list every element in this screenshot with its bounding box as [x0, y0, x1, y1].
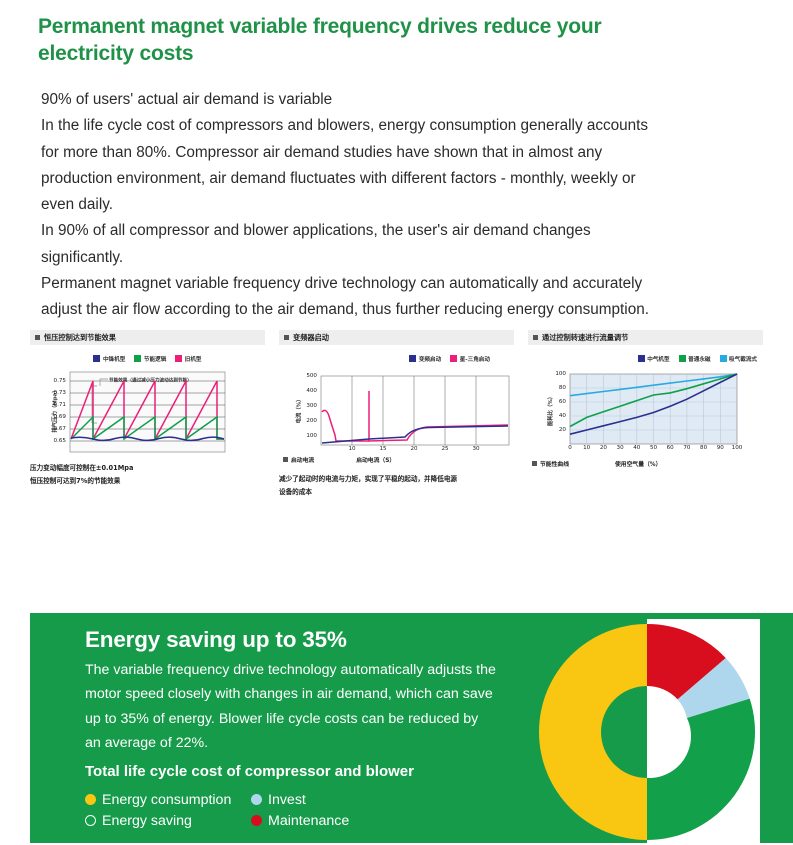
- x-tick: 60: [667, 445, 674, 451]
- x-axis-title: 使用空气量（%）: [615, 459, 661, 468]
- intro-paragraph-3: In 90% of all compressor and blower appl…: [41, 218, 656, 271]
- x-tick: 10: [583, 445, 590, 451]
- panel-title: Energy saving up to 35%: [85, 627, 347, 653]
- x-tick: 90: [717, 445, 724, 451]
- footer-legend-label: 节能性曲线: [540, 459, 569, 468]
- legend-item: 节能逻辑: [134, 355, 166, 363]
- x-tick: 10: [348, 446, 355, 452]
- legend-dot-icon: [85, 794, 96, 805]
- legend-swatch-icon: [720, 355, 727, 362]
- x-tick: 0: [568, 445, 572, 451]
- legend-label: 吸气截流式: [729, 355, 757, 363]
- bullet-square-icon: [283, 457, 288, 462]
- x-tick: 30: [617, 445, 624, 451]
- legend-swatch-icon: [93, 355, 100, 362]
- x-tick: 100: [732, 445, 743, 451]
- x-tick: 20: [410, 446, 417, 452]
- chart-title-bar: 变频器启动: [279, 330, 514, 345]
- footer-legend-label: 启动电流: [291, 455, 314, 464]
- legend-item: 旧机型: [175, 355, 201, 363]
- x-tick: 25: [441, 446, 448, 452]
- legend-swatch-icon: [638, 355, 645, 362]
- pie-legend-item-energy-saving: Energy saving: [85, 813, 251, 829]
- panel-body-text: The variable frequency drive technology …: [85, 658, 497, 755]
- chart-caption-line: 设备的成本: [279, 486, 514, 499]
- pie-legend-item-energy-consumption: Energy consumption: [85, 792, 251, 808]
- legend-label: 变频启动: [419, 355, 441, 363]
- chart-caption: 减少了起动时的电流与力矩，实现了平稳的起动，并降低电源 设备的成本: [279, 473, 514, 499]
- x-tick: 30: [472, 446, 479, 452]
- chart-caption-line: 压力变动幅度可控制在±0.01Mpa: [30, 462, 265, 475]
- footer-legend-item: 节能性曲线: [532, 459, 569, 468]
- chart-legend: 变频启动 星-三角启动: [279, 354, 514, 363]
- bullet-square-icon: [532, 461, 537, 466]
- legend-label: 普通永磁: [688, 355, 710, 363]
- chart-2-svg: [279, 367, 514, 453]
- chart-plot-area: 能耗比（%） 100 80 60 40 20: [528, 367, 763, 453]
- legend-swatch-icon: [450, 355, 457, 362]
- life-cycle-cost-donut-chart: [534, 619, 760, 845]
- legend-label: 节能逻辑: [144, 355, 166, 363]
- chart-3-svg: [528, 367, 763, 453]
- x-tick: 50: [650, 445, 657, 451]
- chart-title: 恒压控制达到节能效果: [44, 333, 116, 343]
- charts-row: 恒压控制达到节能效果 中锋机型 节能逻辑 旧机型 排气压力（Mpa） 0.75 …: [30, 330, 763, 505]
- legend-item: 吸气截流式: [720, 355, 757, 363]
- legend-swatch-icon: [409, 355, 416, 362]
- pie-legend-label: Invest: [268, 792, 306, 808]
- chart-footer: 启动电流 启动电流（S）: [279, 455, 514, 464]
- intro-text: 90% of users' actual air demand is varia…: [41, 87, 656, 324]
- pie-legend-item-maintenance: Maintenance: [251, 813, 415, 829]
- legend-label: 旧机型: [185, 355, 202, 363]
- chart-legend: 中气机型 普通永磁 吸气截流式: [528, 354, 763, 363]
- chart-card-constant-pressure: 恒压控制达到节能效果 中锋机型 节能逻辑 旧机型 排气压力（Mpa） 0.75 …: [30, 330, 265, 505]
- chart-1-svg: 节能效果（通过减小压力波动达到节能）: [30, 367, 265, 453]
- legend-label: 中气机型: [647, 355, 669, 363]
- legend-item: 普通永磁: [679, 355, 711, 363]
- legend-item: 星-三角启动: [450, 355, 490, 363]
- legend-item: 中锋机型: [93, 355, 125, 363]
- intro-paragraph-2: In the life cycle cost of compressors an…: [41, 113, 656, 218]
- pie-legend: Energy consumption Invest Energy saving …: [85, 789, 415, 831]
- chart-title: 通过控制转速进行流量调节: [542, 333, 628, 343]
- panel-subtitle: Total life cycle cost of compressor and …: [85, 763, 414, 780]
- bullet-square-icon: [533, 335, 538, 340]
- legend-dot-icon: [85, 815, 96, 826]
- x-tick: 40: [633, 445, 640, 451]
- bullet-square-icon: [35, 335, 40, 340]
- legend-item: 变频启动: [409, 355, 441, 363]
- bullet-square-icon: [284, 335, 289, 340]
- chart-card-flow-adjust: 通过控制转速进行流量调节 中气机型 普通永磁 吸气截流式 能耗比（%） 100 …: [528, 330, 763, 505]
- chart-caption-line: 恒压控制可达到7%的节能效果: [30, 475, 265, 488]
- intro-paragraph-4: Permanent magnet variable frequency driv…: [41, 271, 656, 324]
- chart-title-bar: 恒压控制达到节能效果: [30, 330, 265, 345]
- legend-dot-icon: [251, 794, 262, 805]
- x-tick: 80: [700, 445, 707, 451]
- svg-text:节能效果（通过减小压力波动达到节能）: 节能效果（通过减小压力波动达到节能）: [109, 377, 192, 384]
- legend-dot-icon: [251, 815, 262, 826]
- x-tick: 15: [379, 446, 386, 452]
- chart-plot-area: 排气压力（Mpa） 0.75 0.73 0.71 0.69 0.67 0.65 …: [30, 367, 265, 453]
- chart-footer: 节能性曲线 使用空气量（%）: [528, 459, 763, 468]
- energy-saving-panel: Energy saving up to 35% The variable fre…: [30, 613, 793, 843]
- chart-title-bar: 通过控制转速进行流量调节: [528, 330, 763, 345]
- panel-body: The variable frequency drive technology …: [85, 658, 497, 755]
- chart-legend: 中锋机型 节能逻辑 旧机型: [30, 354, 265, 363]
- chart-caption-line: 减少了起动时的电流与力矩，实现了平稳的起动，并降低电源: [279, 473, 514, 486]
- x-axis-title: 启动电流（S）: [356, 455, 395, 464]
- legend-item: 中气机型: [638, 355, 670, 363]
- x-tick: 20: [600, 445, 607, 451]
- pie-legend-label: Energy saving: [102, 813, 192, 829]
- legend-swatch-icon: [175, 355, 182, 362]
- chart-card-inverter-start: 变频器启动 变频启动 星-三角启动 电流（%） 500 400 300 200 …: [279, 330, 514, 505]
- chart-caption: 压力变动幅度可控制在±0.01Mpa 恒压控制可达到7%的节能效果: [30, 462, 265, 488]
- intro-paragraph-1: 90% of users' actual air demand is varia…: [41, 87, 656, 113]
- pie-legend-label: Energy consumption: [102, 792, 231, 808]
- page-title: Permanent magnet variable frequency driv…: [38, 14, 658, 67]
- chart-plot-area: 电流（%） 500 400 300 200 100 10 15 20: [279, 367, 514, 453]
- pie-legend-label: Maintenance: [268, 813, 349, 829]
- legend-swatch-icon: [134, 355, 141, 362]
- legend-label: 星-三角启动: [460, 355, 490, 363]
- x-tick: 70: [683, 445, 690, 451]
- legend-label: 中锋机型: [103, 355, 125, 363]
- legend-swatch-icon: [679, 355, 686, 362]
- footer-legend-item: 启动电流: [283, 455, 314, 464]
- chart-title: 变频器启动: [293, 333, 329, 343]
- pie-legend-item-invest: Invest: [251, 792, 415, 808]
